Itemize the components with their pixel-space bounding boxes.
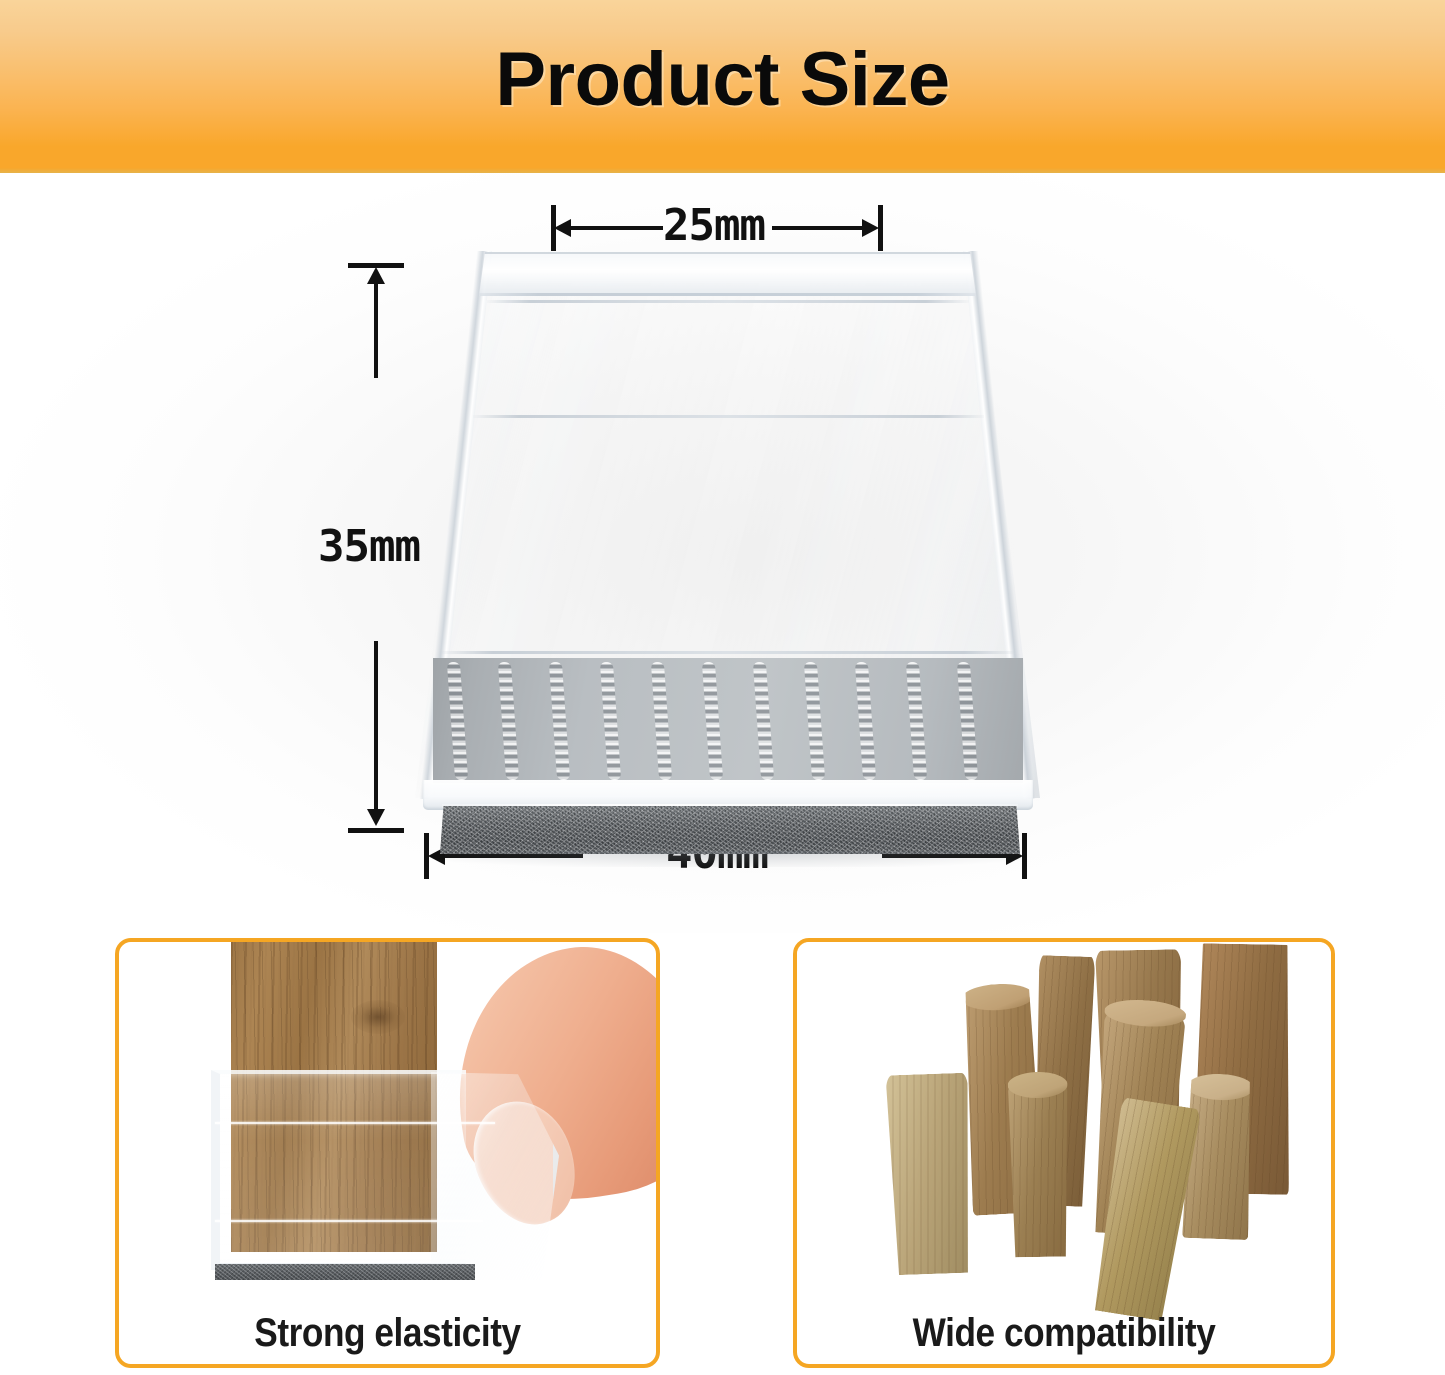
dim-line-left [566,226,663,230]
dim-line-right [772,226,872,230]
wooden-furniture-leg [1007,1071,1070,1257]
cap-ridge-upper [215,1122,495,1124]
coil-row [906,662,927,780]
header-band: Product Size [0,0,1445,173]
cap-ridge-top [487,300,969,303]
coil-row [957,662,978,780]
panel-caption: Wide compatibility [829,1311,1299,1356]
leg-top-face [1007,1071,1067,1098]
wood-knot [351,1000,405,1034]
coil-row [549,662,570,780]
coil-row [702,662,723,780]
page-title: Product Size [0,0,1445,173]
wooden-furniture-leg [886,1073,975,1276]
cap-inner-floor [433,658,1023,783]
dim-label-width-top: 25mm [663,200,765,251]
coil-row [804,662,825,780]
dim-tick-bottom [348,828,404,833]
coil-row [498,662,519,780]
panel-caption: Strong elasticity [151,1311,624,1356]
coil-row [651,662,672,780]
coil-row [600,662,621,780]
dim-arrow-left [554,219,571,237]
dim-line-lower [374,641,378,811]
dim-arrow-up [367,267,385,284]
dim-arrow-right [862,219,879,237]
felt-pad [440,806,1020,854]
coil-row [753,662,774,780]
coil-row [855,662,876,780]
dim-label-height: 35mm [318,521,420,572]
ground-shadow [445,851,1020,867]
wooden-furniture-leg [1182,1073,1254,1240]
coil-row [447,662,468,780]
felt-pad [215,1264,475,1280]
feature-panel-wide-compatibility: Wide compatibility [793,938,1335,1368]
feature-panel-strong-elasticity: Strong elasticity [115,938,660,1368]
product-stage: 25mm 35mm 40mm [0,173,1445,933]
dim-arrow-down [367,809,385,826]
cap-ridge-mid [473,415,984,418]
photo-wide-compatibility [797,942,1331,1280]
product-illustration [415,253,1040,933]
dim-line-upper [374,283,378,378]
product-size-infographic: Product Size 25mm 35mm [0,0,1445,1375]
cap-top-rim [479,252,976,296]
photo-strong-elasticity [119,942,656,1280]
clear-cap [211,1070,466,1270]
leg-top-face [961,982,1034,1012]
cap-ridge-low [441,651,1016,654]
cap-ridge-lower [215,1220,483,1222]
